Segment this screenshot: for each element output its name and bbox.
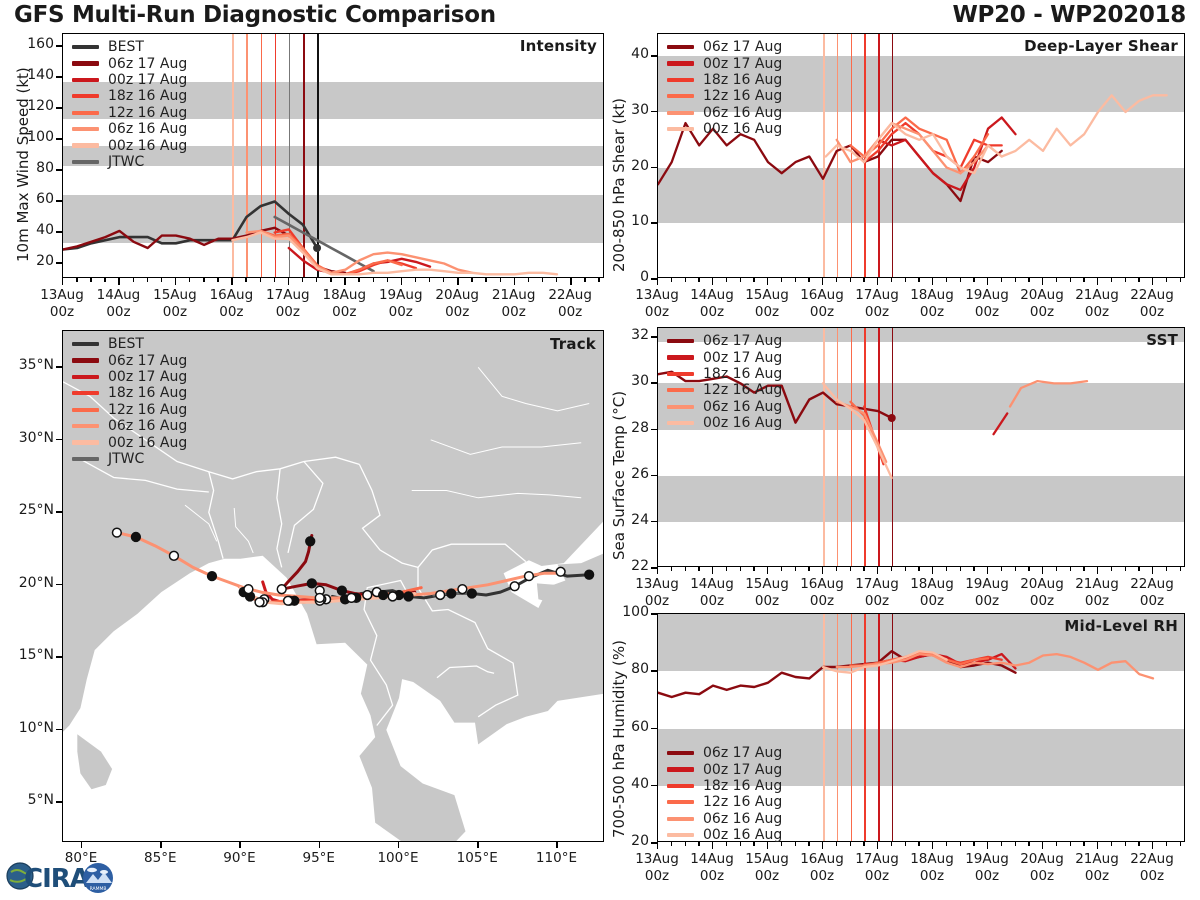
x-axis-tick-mark: [850, 842, 851, 846]
x-tick-day: 14Aug: [690, 287, 734, 303]
y-axis-tick-label: 32: [605, 327, 649, 343]
y-axis-tick-mark: [56, 107, 62, 109]
rh-panel-title: Mid-Level RH: [1020, 617, 1178, 635]
y-axis-tick-label: 26: [605, 466, 649, 482]
x-axis-tick-mark: [1125, 842, 1126, 846]
x-axis-tick-mark: [457, 278, 458, 285]
track-position-marker: [132, 533, 141, 542]
x-tick-hour: 00z: [1085, 868, 1109, 884]
x-axis-tick-mark: [471, 278, 472, 282]
series-line: [658, 651, 1016, 697]
y-axis-tick-label: 60: [605, 719, 649, 735]
x-tick-hour: 00z: [645, 304, 669, 320]
lat-tick-label: 5°N: [0, 792, 54, 808]
x-axis-tick-mark: [1028, 567, 1029, 571]
legend-item: 12z 16 Aug: [667, 382, 782, 398]
x-axis-tick-mark: [836, 567, 837, 571]
y-axis-tick-mark: [56, 45, 62, 47]
x-tick-day: 15Aug: [153, 287, 197, 303]
x-axis-tick-mark: [1166, 278, 1167, 282]
x-tick-hour: 00z: [700, 868, 724, 884]
legend-swatch-icon: [667, 111, 694, 115]
x-tick-day: 20Aug: [1020, 287, 1064, 303]
x-axis-tick-mark: [1001, 842, 1002, 846]
x-axis-tick-mark: [1152, 567, 1153, 574]
x-tick-hour: 00z: [810, 304, 834, 320]
x-axis-tick-mark: [1125, 278, 1126, 282]
legend-swatch-icon: [72, 111, 99, 115]
x-axis-tick-mark: [1166, 567, 1167, 571]
legend-label: 12z 16 Aug: [703, 382, 782, 398]
x-axis-tick-mark: [698, 278, 699, 282]
x-axis-tick-mark: [1180, 567, 1181, 571]
legend-item: JTWC: [72, 154, 187, 170]
series-line: [1010, 381, 1087, 406]
legend-label: JTWC: [108, 154, 144, 170]
x-tick-day: 15Aug: [745, 851, 789, 867]
intensity-legend: BEST06z 17 Aug00z 17 Aug18z 16 Aug12z 16…: [72, 39, 187, 170]
y-axis-tick-mark: [651, 521, 657, 523]
x-tick-day: 13Aug: [40, 287, 84, 303]
lon-tick-label: 105°E: [443, 850, 511, 867]
legend-item: 06z 17 Aug: [72, 352, 187, 368]
lon-tick-mark: [239, 842, 240, 848]
legend-label: 06z 17 Aug: [703, 333, 782, 349]
x-tick-hour: 00z: [920, 304, 944, 320]
x-axis-tick-mark: [1152, 278, 1153, 285]
x-tick-day: 18Aug: [910, 287, 954, 303]
x-axis-tick-mark: [288, 278, 289, 285]
x-axis-tick-mark: [740, 278, 741, 282]
y-axis-tick-label: 120: [10, 98, 54, 114]
x-tick-day: 14Aug: [97, 287, 141, 303]
legend-label: 18z 16 Aug: [703, 72, 782, 88]
x-axis-tick-mark: [1152, 842, 1153, 849]
x-tick-hour: 00z: [1030, 868, 1054, 884]
x-axis-tick-mark: [671, 278, 672, 282]
x-axis-tick-mark: [767, 567, 768, 574]
x-axis-tick-mark: [189, 278, 190, 282]
lat-tick-mark: [56, 656, 62, 658]
x-axis-tick-mark: [987, 567, 988, 574]
track-position-marker: [458, 585, 467, 594]
y-axis-tick-label: 30: [605, 102, 649, 118]
y-axis-tick-mark: [56, 169, 62, 171]
x-axis-tick-mark: [1042, 567, 1043, 574]
y-axis-tick-mark: [651, 475, 657, 477]
x-axis-tick-mark: [712, 278, 713, 285]
x-axis-tick-mark: [918, 567, 919, 571]
x-tick-hour: 00z: [755, 593, 779, 609]
y-axis-tick-mark: [651, 55, 657, 57]
legend-swatch-icon: [72, 127, 99, 131]
x-tick-day: 16Aug: [800, 287, 844, 303]
y-axis-tick-label: 20: [605, 158, 649, 174]
legend-label: 00z 16 Aug: [108, 138, 187, 154]
lat-tick-label: 20°N: [0, 575, 54, 591]
lat-tick-label: 15°N: [0, 647, 54, 663]
y-axis-tick-mark: [651, 336, 657, 338]
legend-label: 06z 16 Aug: [108, 121, 187, 137]
x-tick-hour: 00z: [1140, 593, 1164, 609]
legend-item: 18z 16 Aug: [667, 778, 782, 794]
x-tick-hour: 00z: [755, 304, 779, 320]
x-axis-tick-mark: [1056, 567, 1057, 571]
x-axis-tick-mark: [657, 278, 658, 285]
x-tick-hour: 00z: [219, 304, 243, 320]
lon-tick-mark: [556, 842, 557, 848]
legend-item: 06z 16 Aug: [667, 105, 782, 121]
x-axis-tick-label: 22Aug00z: [1118, 576, 1186, 610]
legend-item: 18z 16 Aug: [667, 72, 782, 88]
x-axis-tick-mark: [1015, 278, 1016, 282]
y-axis-tick-mark: [651, 728, 657, 730]
legend-label: 00z 17 Aug: [108, 72, 187, 88]
legend-item: 18z 16 Aug: [667, 366, 782, 382]
legend-item: 00z 16 Aug: [72, 434, 187, 450]
x-axis-tick-mark: [62, 278, 63, 285]
y-axis-tick-mark: [651, 670, 657, 672]
x-tick-hour: 00z: [276, 304, 300, 320]
x-tick-day: 20Aug: [1020, 576, 1064, 592]
x-axis-tick-mark: [932, 278, 933, 285]
x-axis-tick-mark: [1028, 842, 1029, 846]
x-axis-tick-mark: [147, 278, 148, 282]
x-tick-hour: 00z: [755, 868, 779, 884]
x-tick-day: 19Aug: [965, 851, 1009, 867]
x-tick-hour: 00z: [1140, 868, 1164, 884]
x-axis-tick-mark: [1028, 278, 1029, 282]
lat-tick-label: 35°N: [0, 357, 54, 373]
legend-swatch-icon: [667, 388, 694, 392]
shear-legend: 06z 17 Aug00z 17 Aug18z 16 Aug12z 16 Aug…: [667, 39, 782, 137]
track-position-marker: [255, 598, 264, 607]
x-axis-tick-mark: [1125, 567, 1126, 571]
x-tick-day: 15Aug: [745, 576, 789, 592]
legend-item: 12z 16 Aug: [667, 88, 782, 104]
x-axis-tick-mark: [1083, 278, 1084, 282]
legend-swatch-icon: [72, 94, 99, 98]
x-axis-tick-mark: [987, 842, 988, 849]
series-line: [247, 231, 473, 273]
y-axis-tick-mark: [651, 222, 657, 224]
x-axis-tick-mark: [753, 278, 754, 282]
x-axis-tick-mark: [76, 278, 77, 282]
legend-label: 00z 17 Aug: [703, 56, 782, 72]
legend-label: 06z 17 Aug: [703, 745, 782, 761]
legend-label: 18z 16 Aug: [703, 366, 782, 382]
x-axis-tick-mark: [1070, 842, 1071, 846]
x-axis-tick-mark: [863, 278, 864, 282]
y-axis-tick-label: 20: [605, 833, 649, 849]
x-axis-tick-mark: [1180, 278, 1181, 282]
legend-label: 12z 16 Aug: [703, 88, 782, 104]
x-tick-day: 21Aug: [492, 287, 536, 303]
legend-swatch-icon: [667, 784, 694, 788]
track-position-marker: [315, 593, 324, 602]
x-axis-tick-mark: [245, 278, 246, 282]
legend-label: BEST: [108, 336, 144, 352]
legend-item: 12z 16 Aug: [667, 794, 782, 810]
legend-item: BEST: [72, 336, 187, 352]
legend-swatch-icon: [72, 391, 99, 395]
lon-tick-mark: [477, 842, 478, 848]
legend-item: 06z 17 Aug: [667, 39, 782, 55]
legend-item: 06z 16 Aug: [667, 399, 782, 415]
x-axis-tick-mark: [1180, 842, 1181, 846]
x-tick-day: 21Aug: [1075, 287, 1119, 303]
x-tick-hour: 00z: [50, 304, 74, 320]
x-axis-tick-mark: [1070, 278, 1071, 282]
series-line: [823, 383, 892, 478]
track-position-marker: [404, 592, 413, 601]
x-axis-tick-mark: [401, 278, 402, 285]
x-tick-hour: 00z: [1030, 593, 1054, 609]
lon-tick-label: 95°E: [285, 850, 353, 867]
y-axis-tick-label: 60: [10, 191, 54, 207]
x-tick-day: 21Aug: [1075, 576, 1119, 592]
x-tick-hour: 00z: [700, 593, 724, 609]
x-tick-day: 22Aug: [1130, 851, 1174, 867]
x-axis-tick-mark: [960, 278, 961, 282]
cira-logo: CIRA RAMMB: [4, 855, 122, 897]
legend-label: 00z 16 Aug: [108, 435, 187, 451]
legend-label: 18z 16 Aug: [703, 778, 782, 794]
x-axis-tick-mark: [1001, 567, 1002, 571]
legend-item: 06z 16 Aug: [667, 811, 782, 827]
x-axis-tick-mark: [960, 567, 961, 571]
x-axis-tick-mark: [302, 278, 303, 282]
legend-label: 00z 17 Aug: [703, 350, 782, 366]
legend-swatch-icon: [667, 94, 694, 98]
x-axis-tick-mark: [932, 842, 933, 849]
y-axis-tick-mark: [651, 382, 657, 384]
x-axis-tick-mark: [90, 278, 91, 282]
y-axis-tick-mark: [56, 262, 62, 264]
lat-tick-label: 25°N: [0, 502, 54, 518]
x-axis-tick-mark: [217, 278, 218, 282]
y-axis-tick-mark: [651, 167, 657, 169]
track-position-marker: [436, 591, 445, 600]
y-axis-tick-label: 28: [605, 420, 649, 436]
x-axis-tick-mark: [767, 278, 768, 285]
x-axis-tick-mark: [1111, 278, 1112, 282]
x-axis-tick-mark: [260, 278, 261, 282]
y-axis-tick-mark: [651, 111, 657, 113]
x-axis-tick-mark: [822, 842, 823, 849]
legend-item: 12z 16 Aug: [72, 105, 187, 121]
x-axis-tick-mark: [231, 278, 232, 285]
legend-item: 00z 17 Aug: [667, 761, 782, 777]
lat-tick-mark: [56, 801, 62, 803]
x-axis-tick-mark: [1056, 842, 1057, 846]
legend-label: 00z 16 Aug: [703, 121, 782, 137]
legend-swatch-icon: [72, 440, 99, 444]
x-axis-tick-mark: [932, 567, 933, 574]
x-axis-tick-mark: [316, 278, 317, 282]
lon-tick-mark: [160, 842, 161, 848]
x-axis-tick-mark: [387, 278, 388, 282]
track-position-marker: [208, 572, 217, 581]
x-axis-tick-mark: [1083, 842, 1084, 846]
x-tick-day: 18Aug: [323, 287, 367, 303]
x-axis-tick-mark: [104, 278, 105, 282]
track-position-marker: [307, 579, 316, 588]
x-tick-day: 20Aug: [435, 287, 479, 303]
track-position-marker: [244, 585, 253, 594]
legend-label: 18z 16 Aug: [108, 88, 187, 104]
x-axis-tick-mark: [795, 567, 796, 571]
x-axis-tick-mark: [1097, 278, 1098, 285]
x-tick-day: 20Aug: [1020, 851, 1064, 867]
legend-item: BEST: [72, 39, 187, 55]
x-axis-tick-mark: [740, 567, 741, 571]
x-tick-hour: 00z: [920, 593, 944, 609]
x-axis-tick-mark: [850, 278, 851, 282]
x-axis-tick-mark: [822, 278, 823, 285]
x-tick-day: 13Aug: [635, 851, 679, 867]
x-tick-day: 17Aug: [855, 287, 899, 303]
legend-label: 12z 16 Aug: [108, 105, 187, 121]
track-position-marker: [284, 596, 293, 605]
legend-swatch-icon: [667, 833, 694, 837]
legend-label: BEST: [108, 39, 144, 55]
x-axis-tick-mark: [836, 842, 837, 846]
x-axis-tick-mark: [685, 567, 686, 571]
x-axis-tick-mark: [808, 278, 809, 282]
y-axis-tick-label: 100: [605, 604, 649, 620]
x-tick-day: 14Aug: [690, 576, 734, 592]
x-tick-day: 15Aug: [745, 287, 789, 303]
legend-swatch-icon: [72, 375, 99, 379]
lat-tick-mark: [56, 439, 62, 441]
track-position-marker: [447, 589, 456, 598]
legend-swatch-icon: [667, 45, 694, 49]
x-tick-hour: 00z: [700, 304, 724, 320]
x-axis-tick-mark: [918, 278, 919, 282]
series-line: [63, 202, 317, 250]
track-position-marker: [112, 528, 121, 537]
x-tick-day: 19Aug: [379, 287, 423, 303]
x-tick-hour: 00z: [1085, 304, 1109, 320]
y-axis-tick-label: 40: [605, 776, 649, 792]
x-axis-tick-mark: [1111, 842, 1112, 846]
x-axis-tick-mark: [657, 567, 658, 574]
x-tick-day: 19Aug: [965, 287, 1009, 303]
x-axis-tick-mark: [877, 278, 878, 285]
track-position-marker: [525, 572, 534, 581]
legend-item: 06z 16 Aug: [72, 121, 187, 137]
x-tick-hour: 00z: [810, 593, 834, 609]
x-tick-day: 17Aug: [266, 287, 310, 303]
x-axis-tick-mark: [330, 278, 331, 282]
legend-item: 06z 16 Aug: [72, 418, 187, 434]
x-tick-day: 13Aug: [635, 576, 679, 592]
series-line: [275, 217, 374, 271]
track-position-marker: [338, 586, 347, 595]
track-position-marker: [363, 591, 372, 600]
x-axis-tick-mark: [528, 278, 529, 282]
map-border: [62, 418, 63, 425]
lon-tick-label: 110°E: [522, 850, 590, 867]
x-axis-tick-mark: [850, 567, 851, 571]
y-axis-tick-label: 80: [10, 160, 54, 176]
y-axis-tick-label: 140: [10, 67, 54, 83]
x-tick-hour: 00z: [1140, 304, 1164, 320]
x-axis-tick-mark: [905, 842, 906, 846]
y-axis-tick-mark: [56, 231, 62, 233]
x-axis-tick-label: 22Aug00z: [536, 287, 604, 321]
x-axis-tick-mark: [1001, 278, 1002, 282]
x-tick-day: 18Aug: [910, 851, 954, 867]
x-axis-tick-mark: [808, 842, 809, 846]
x-axis-tick-mark: [726, 567, 727, 571]
x-axis-tick-mark: [542, 278, 543, 282]
x-axis-tick-mark: [344, 278, 345, 285]
lat-tick-mark: [56, 366, 62, 368]
x-axis-tick-mark: [712, 567, 713, 574]
legend-swatch-icon: [667, 61, 694, 65]
x-tick-hour: 00z: [920, 868, 944, 884]
legend-swatch-icon: [667, 127, 694, 131]
legend-swatch-icon: [667, 339, 694, 343]
legend-label: 06z 17 Aug: [108, 56, 187, 72]
track-position-marker: [585, 570, 594, 579]
legend-swatch-icon: [667, 800, 694, 804]
x-axis-tick-mark: [781, 567, 782, 571]
y-axis-tick-label: 30: [605, 373, 649, 389]
x-tick-hour: 00z: [645, 868, 669, 884]
series-end-marker: [313, 244, 321, 252]
x-axis-tick-mark: [918, 842, 919, 846]
legend-item: 00z 17 Aug: [667, 349, 782, 365]
legend-item: 00z 16 Aug: [667, 121, 782, 137]
x-axis-tick-mark: [514, 278, 515, 285]
x-axis-tick-mark: [877, 842, 878, 849]
legend-swatch-icon: [72, 61, 99, 65]
y-axis-tick-mark: [56, 200, 62, 202]
legend-item: 00z 16 Aug: [667, 827, 782, 843]
track-position-marker: [347, 593, 356, 602]
legend-swatch-icon: [72, 457, 99, 461]
x-axis-tick-mark: [960, 842, 961, 846]
legend-label: JTWC: [108, 451, 144, 467]
x-axis-tick-mark: [175, 278, 176, 285]
x-axis-tick-mark: [795, 278, 796, 282]
legend-item: 06z 17 Aug: [667, 745, 782, 761]
x-axis-tick-mark: [657, 842, 658, 849]
y-axis-tick-label: 40: [10, 222, 54, 238]
y-axis-tick-mark: [56, 76, 62, 78]
y-axis-tick-label: 10: [605, 213, 649, 229]
legend-item: 00z 17 Aug: [72, 369, 187, 385]
x-axis-tick-mark: [781, 278, 782, 282]
x-axis-tick-mark: [795, 842, 796, 846]
x-tick-hour: 00z: [975, 304, 999, 320]
legend-label: 00z 16 Aug: [703, 827, 782, 843]
x-tick-hour: 00z: [865, 868, 889, 884]
x-axis-tick-mark: [726, 278, 727, 282]
legend-label: 06z 17 Aug: [108, 353, 187, 369]
x-axis-tick-label: 22Aug00z: [1118, 851, 1186, 885]
x-axis-tick-mark: [905, 278, 906, 282]
x-axis-tick-mark: [118, 278, 119, 285]
x-tick-hour: 00z: [558, 304, 582, 320]
legend-label: 06z 16 Aug: [108, 418, 187, 434]
page-title: GFS Multi-Run Diagnostic Comparison: [14, 2, 496, 28]
x-axis-tick-mark: [1138, 842, 1139, 846]
x-axis-tick-mark: [671, 567, 672, 571]
